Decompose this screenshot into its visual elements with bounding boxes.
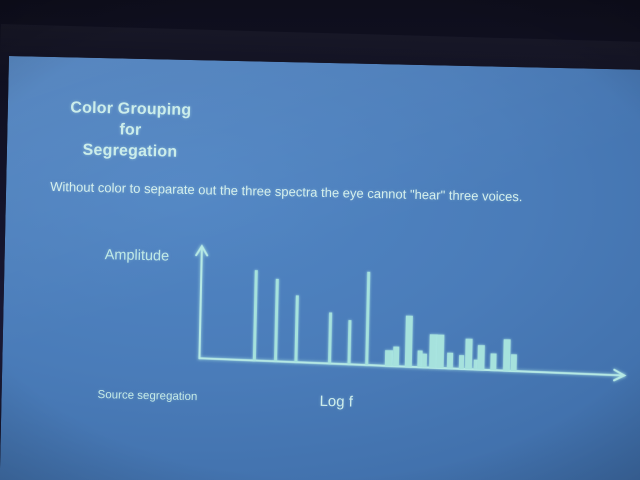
spectrum-bar xyxy=(393,347,399,367)
spectrum-bar xyxy=(465,339,473,370)
spectrum-bar xyxy=(422,354,427,368)
spectrum-bar xyxy=(447,353,453,369)
spectrum-bar xyxy=(253,270,258,360)
line-spectrum-chart xyxy=(152,239,635,384)
y-axis-line xyxy=(199,248,201,358)
presentation-slide: Color Grouping for Segregation Without c… xyxy=(0,56,640,480)
spectrum-bar xyxy=(511,354,517,371)
spectrum-bar xyxy=(459,355,464,369)
x-axis-label: Log f xyxy=(319,393,353,411)
spectrum-bar xyxy=(365,272,370,365)
spectrum-bar xyxy=(274,279,279,362)
slide-title: Color Grouping for Segregation xyxy=(25,96,236,164)
spectrum-bar xyxy=(385,350,393,366)
spectrum-bars xyxy=(253,269,519,371)
spectrum-bar xyxy=(474,360,478,370)
spectrum-bar xyxy=(405,316,413,367)
projected-slide-photo: Color Grouping for Segregation Without c… xyxy=(0,0,640,480)
spectrum-bar xyxy=(437,335,445,369)
chart-svg xyxy=(152,239,635,384)
spectrum-bar xyxy=(429,334,438,368)
spectrum-bar xyxy=(490,353,496,370)
spectrum-bar xyxy=(347,320,351,364)
source-segregation-caption: Source segregation xyxy=(97,389,197,403)
spectrum-bar xyxy=(477,345,485,370)
spectrum-bar xyxy=(503,339,511,371)
spectrum-bar xyxy=(328,312,332,363)
spectrum-bar xyxy=(294,295,298,362)
